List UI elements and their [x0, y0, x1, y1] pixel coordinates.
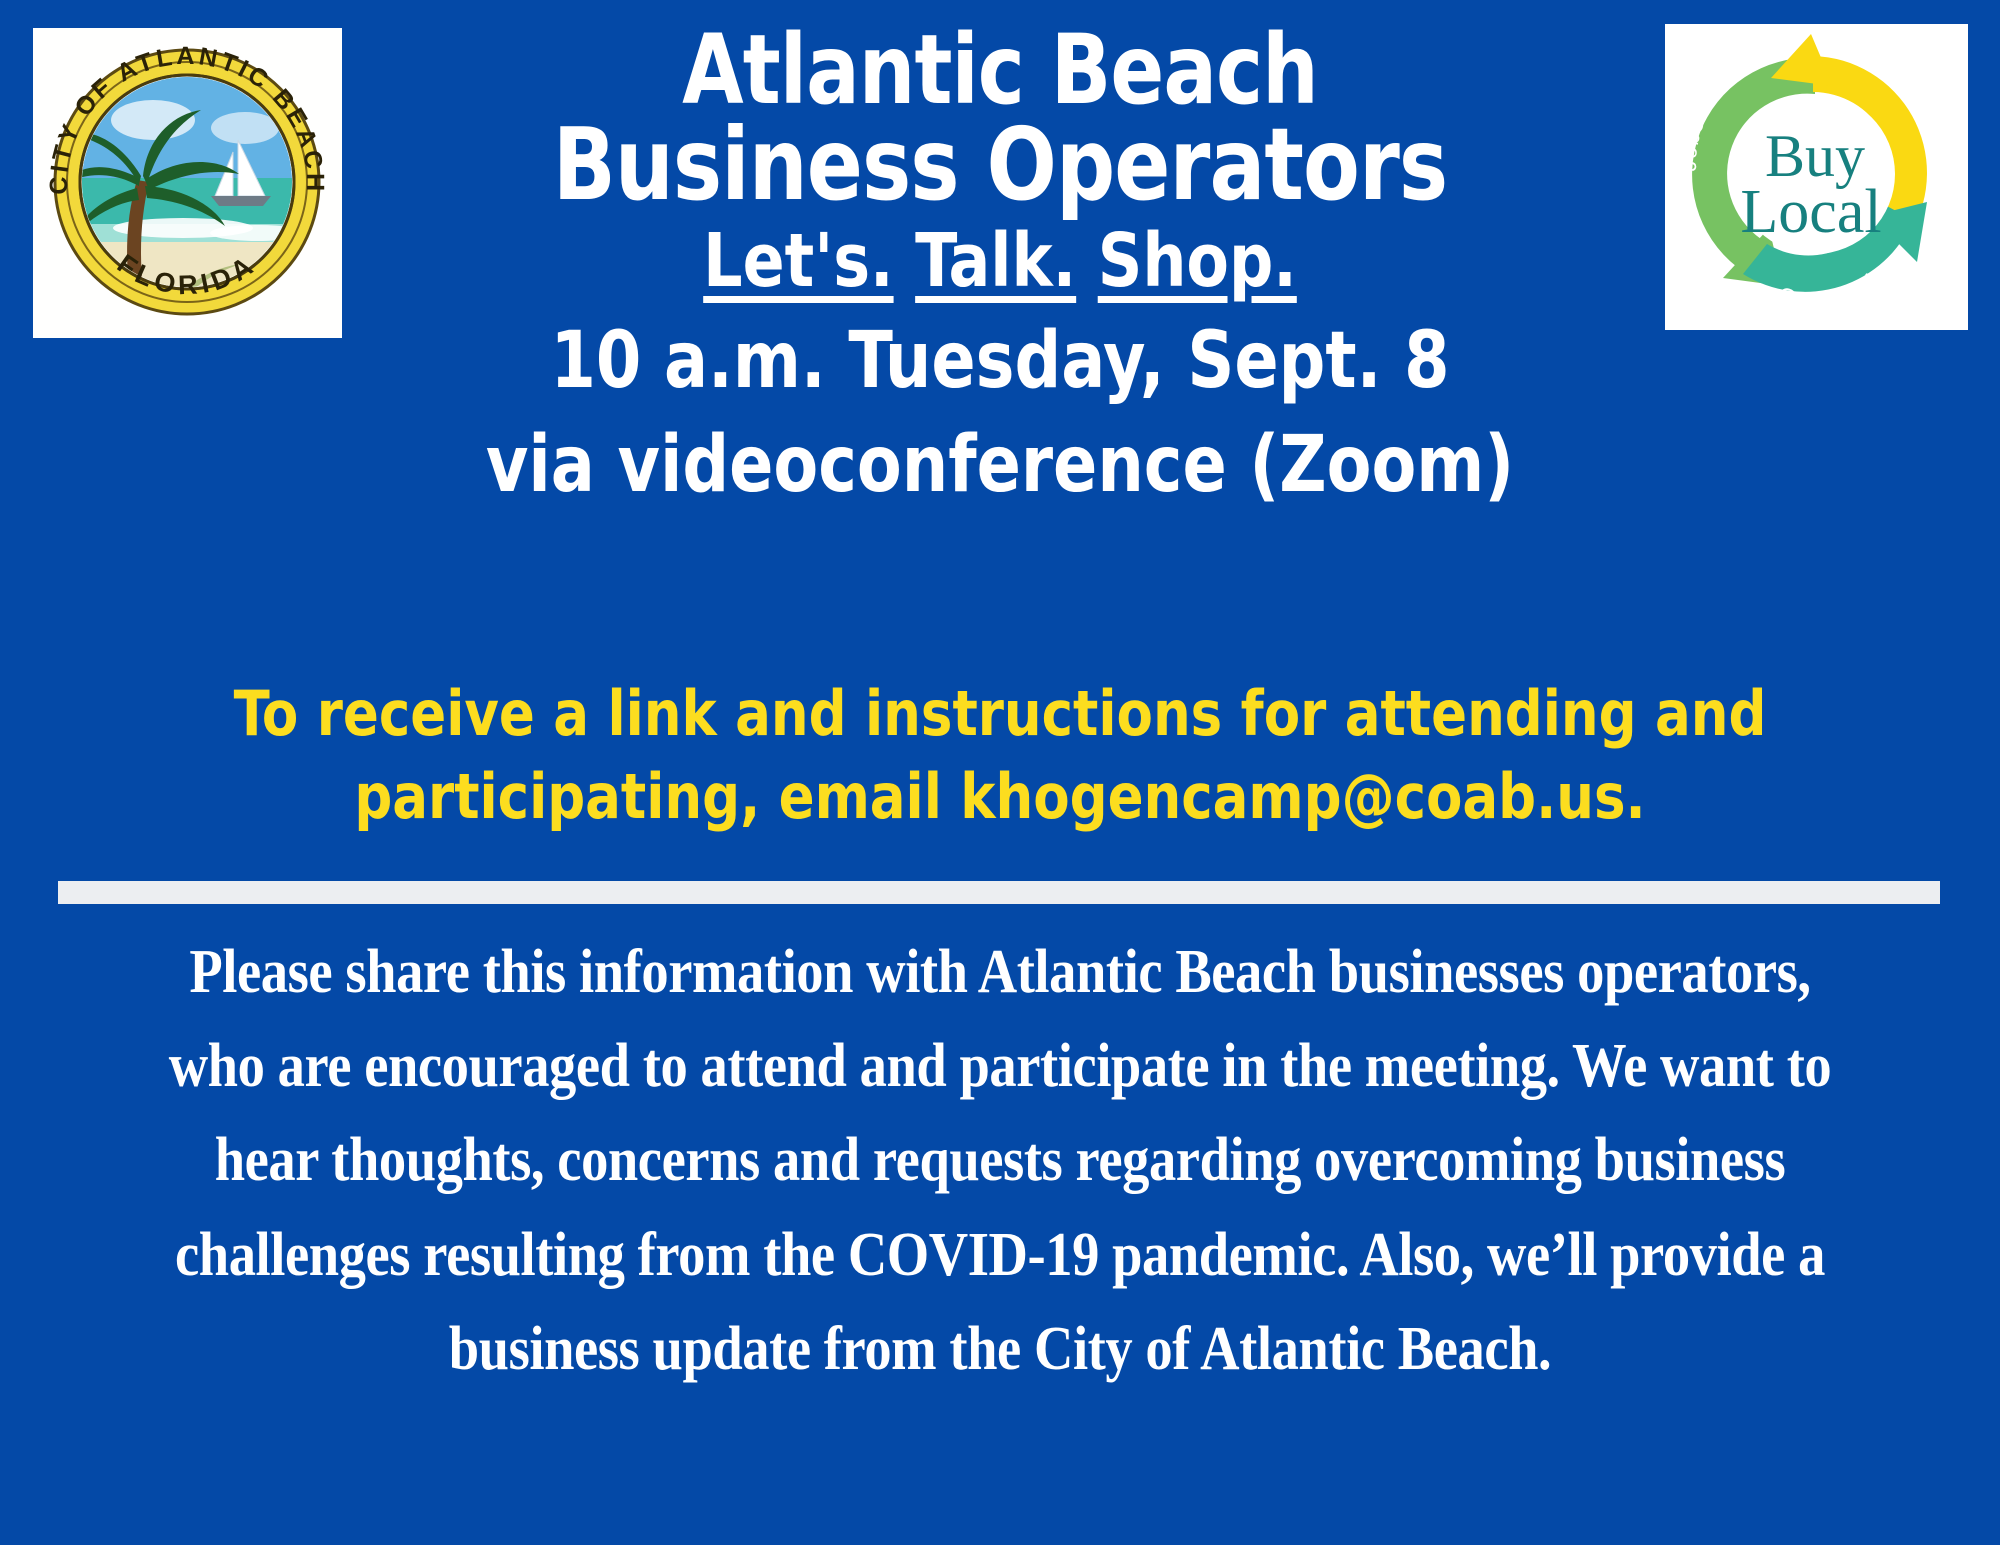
- meeting-platform: via videoconference (Zoom): [349, 419, 1651, 511]
- tagline-word-lets: Let's.: [703, 218, 893, 304]
- city-seal-logo: CITY OF ATLANTIC BEACH FLORIDA: [33, 28, 342, 338]
- flyer-canvas: CITY OF ATLANTIC BEACH FLORIDA: [0, 0, 2000, 1545]
- headline-block: Atlantic Beach Business Operators Let's.…: [300, 22, 1700, 511]
- email-instructions: To receive a link and instructions for a…: [107, 672, 1893, 838]
- tagline: Let's. Talk. Shop.: [349, 220, 1651, 303]
- section-divider: [58, 881, 1940, 904]
- city-seal-icon: CITY OF ATLANTIC BEACH FLORIDA: [33, 28, 342, 338]
- buy-local-line2: Local: [1740, 178, 1881, 246]
- tagline-word-shop: Shop.: [1098, 218, 1297, 304]
- buy-local-logo: Buy Local Jobs Economy Community: [1665, 24, 1968, 330]
- headline-line-2: Business Operators: [356, 114, 1644, 216]
- tagline-word-talk: Talk.: [915, 218, 1076, 304]
- body-paragraph: Please share this information with Atlan…: [160, 925, 1841, 1396]
- meeting-datetime: 10 a.m. Tuesday, Sept. 8: [349, 315, 1651, 407]
- buy-local-icon: Buy Local Jobs Economy Community: [1665, 24, 1968, 330]
